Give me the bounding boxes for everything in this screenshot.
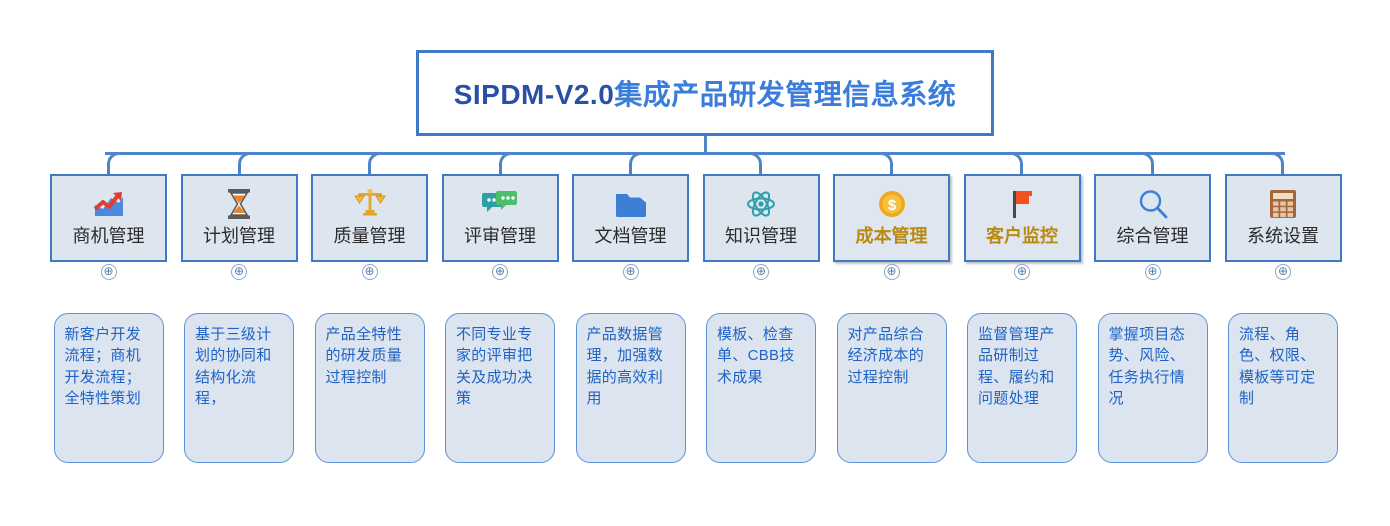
expand-plus-icon-6[interactable]: ⊕ <box>753 264 769 280</box>
module-card-label: 商机管理 <box>73 227 145 245</box>
page-title: SIPDM-V2.0集成产品研发管理信息系统 <box>454 73 957 113</box>
balance-scales-icon <box>313 183 426 225</box>
module-card-label: 文档管理 <box>595 227 667 245</box>
module-card-label: 评审管理 <box>464 227 536 245</box>
connector-branch <box>107 152 122 174</box>
system-title-box: SIPDM-V2.0集成产品研发管理信息系统 <box>416 50 994 136</box>
module-card-10[interactable]: 系统设置 <box>1225 174 1342 262</box>
connector-branch <box>1139 152 1154 174</box>
connector-branch <box>629 152 644 174</box>
hourglass-icon <box>183 183 296 225</box>
module-description-6: 模板、检查单、CBB技术成果 <box>706 313 816 463</box>
atom-icon <box>705 183 818 225</box>
connector-branch <box>499 152 514 174</box>
svg-text:$: $ <box>887 197 896 214</box>
expand-plus-icon-1[interactable]: ⊕ <box>101 264 117 280</box>
growth-chart-icon <box>52 183 165 225</box>
connector-branch <box>747 152 762 174</box>
connector-branch <box>1008 152 1023 174</box>
module-description-5: 产品数据管理，加强数据的高效利用 <box>576 313 686 463</box>
module-card-label: 成本管理 <box>856 227 928 245</box>
connector-branch <box>238 152 253 174</box>
title-product-code: SIPDM-V2.0 <box>454 79 615 110</box>
module-description-1: 新客户开发流程；商机开发流程；全特性策划 <box>54 313 164 463</box>
module-card-2[interactable]: 计划管理 <box>181 174 298 262</box>
expand-plus-icon-5[interactable]: ⊕ <box>623 264 639 280</box>
module-card-label: 系统设置 <box>1247 227 1319 245</box>
connector-branch <box>368 152 383 174</box>
module-card-5[interactable]: 文档管理 <box>572 174 689 262</box>
module-description-10: 流程、角色、权限、模板等可定制 <box>1228 313 1338 463</box>
expand-plus-icon-2[interactable]: ⊕ <box>231 264 247 280</box>
expand-plus-icon-3[interactable]: ⊕ <box>362 264 378 280</box>
module-card-label: 质量管理 <box>334 227 406 245</box>
module-description-8: 监督管理产品研制过程、履约和问题处理 <box>967 313 1077 463</box>
magnifier-icon <box>1096 183 1209 225</box>
chat-bubbles-icon <box>444 183 557 225</box>
module-card-label: 综合管理 <box>1117 227 1189 245</box>
connector-branch <box>1269 152 1284 174</box>
module-description-7: 对产品综合经济成本的过程控制 <box>837 313 947 463</box>
module-card-6[interactable]: 知识管理 <box>703 174 820 262</box>
expand-plus-icon-4[interactable]: ⊕ <box>492 264 508 280</box>
module-card-4[interactable]: 评审管理 <box>442 174 559 262</box>
expand-plus-icon-9[interactable]: ⊕ <box>1145 264 1161 280</box>
module-description-2: 基于三级计划的协同和结构化流程， <box>184 313 294 463</box>
expand-plus-icon-7[interactable]: ⊕ <box>884 264 900 280</box>
module-card-3[interactable]: 质量管理 <box>311 174 428 262</box>
module-card-label: 知识管理 <box>725 227 797 245</box>
module-card-1[interactable]: 商机管理 <box>50 174 167 262</box>
folder-icon <box>574 183 687 225</box>
org-diagram-canvas: SIPDM-V2.0集成产品研发管理信息系统 商机管理⊕ 计划管理⊕ <box>0 0 1390 526</box>
module-card-8[interactable]: 客户监控 <box>964 174 1081 262</box>
module-card-9[interactable]: 综合管理 <box>1094 174 1211 262</box>
calculator-icon <box>1227 183 1340 225</box>
module-description-3: 产品全特性的研发质量过程控制 <box>315 313 425 463</box>
module-card-label: 客户监控 <box>986 227 1058 245</box>
flag-icon <box>966 183 1079 225</box>
module-card-7[interactable]: $ 成本管理 <box>833 174 950 262</box>
coin-dollar-icon: $ <box>835 183 948 225</box>
module-description-9: 掌握项目态势、风险、任务执行情况 <box>1098 313 1208 463</box>
connector-branch <box>878 152 893 174</box>
module-description-4: 不同专业专家的评审把关及成功决策 <box>445 313 555 463</box>
connector-bus <box>105 152 1285 155</box>
module-card-label: 计划管理 <box>203 227 275 245</box>
expand-plus-icon-10[interactable]: ⊕ <box>1275 264 1291 280</box>
title-chinese-name: 集成产品研发管理信息系统 <box>614 79 956 110</box>
expand-plus-icon-8[interactable]: ⊕ <box>1014 264 1030 280</box>
